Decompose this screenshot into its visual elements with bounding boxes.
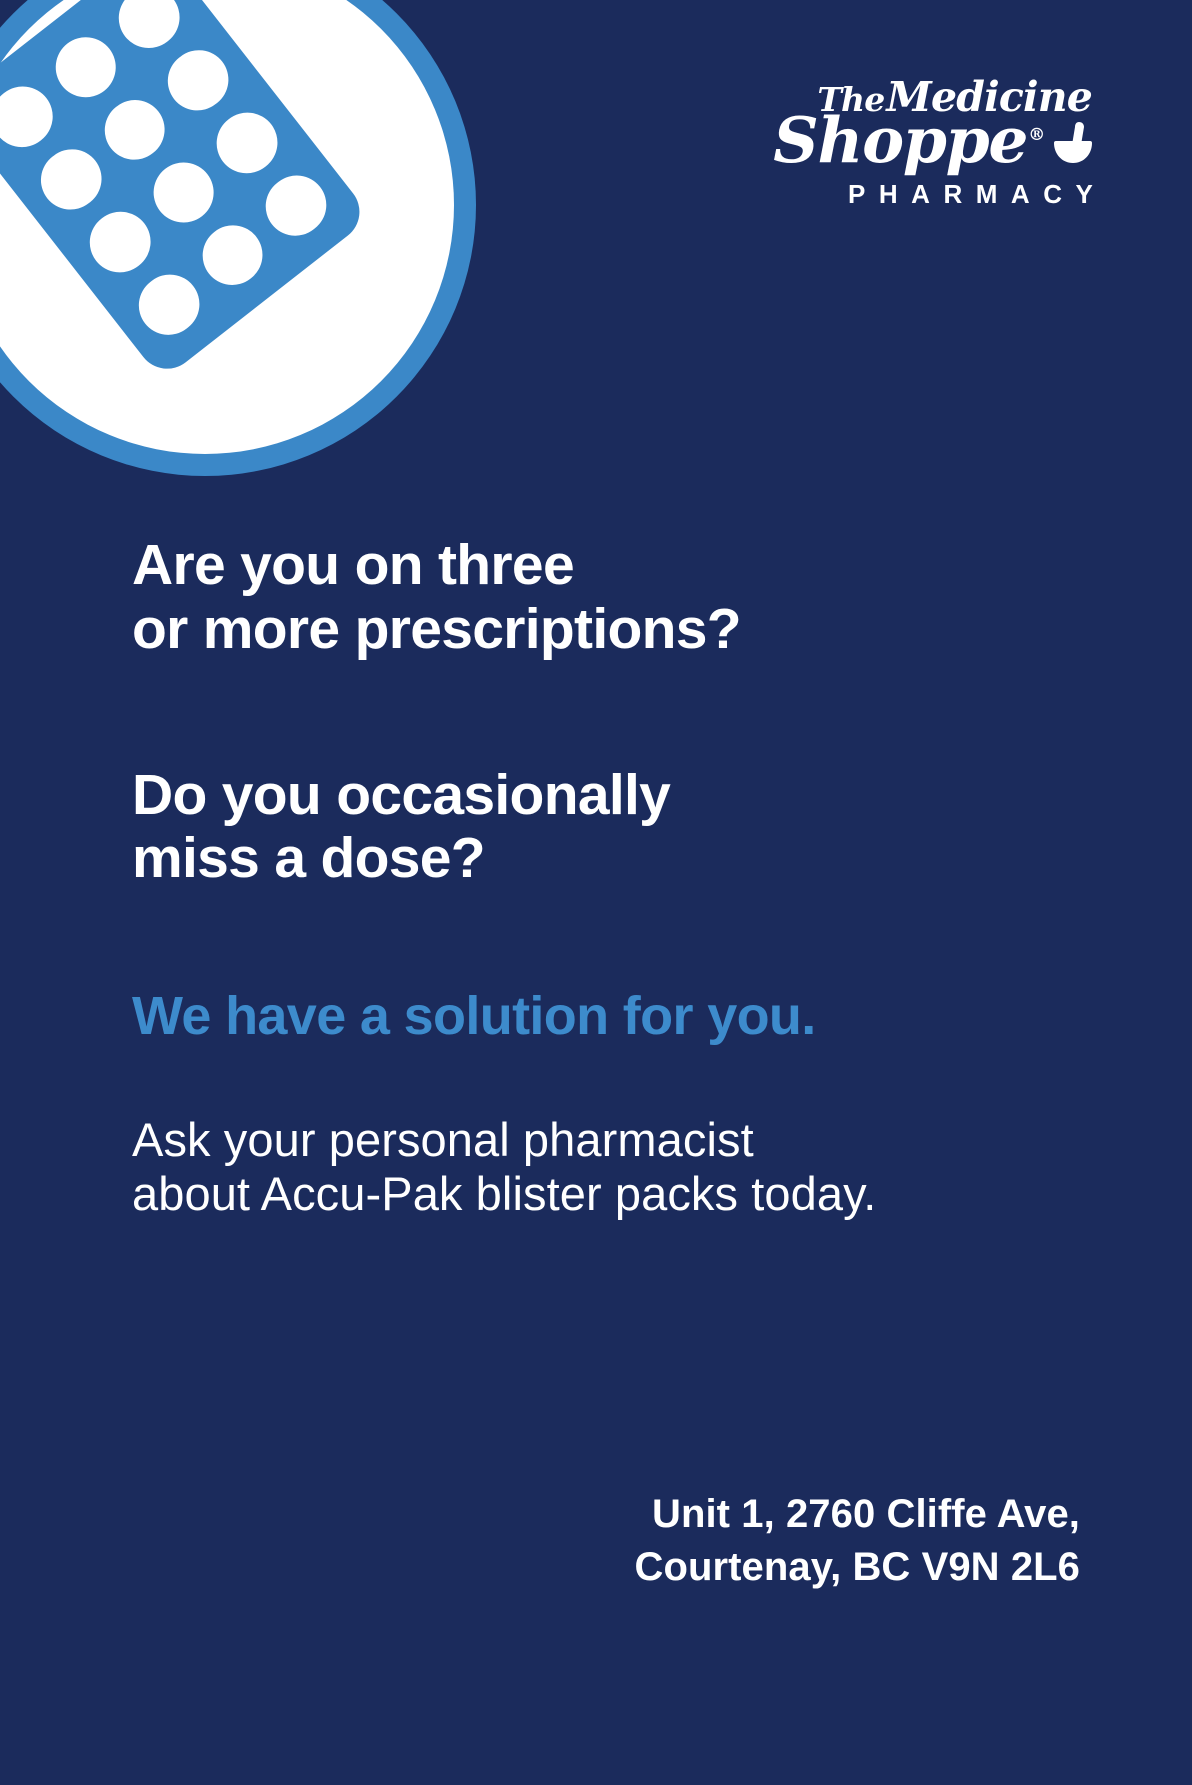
pill-capsule [156, 38, 240, 122]
headline-prescriptions: Are you on three or more prescriptions? [132, 534, 1112, 662]
pill-capsule [0, 75, 64, 159]
pill-capsule [190, 213, 274, 297]
pill-capsule [29, 137, 113, 221]
mortar-and-pestle-icon [1046, 118, 1096, 168]
store-address: Unit 1, 2760 Cliffe Ave, Courtenay, BC V… [635, 1488, 1081, 1594]
pill-capsule [205, 101, 289, 185]
pill-capsule [107, 0, 191, 59]
call-to-action-text: Ask your personal pharmacist about Accu-… [132, 1113, 1112, 1222]
headline-missed-dose: Do you occasionally miss a dose? [132, 764, 1112, 892]
registered-trademark-icon: ® [1028, 128, 1044, 144]
pill-capsule [43, 25, 127, 109]
pill-capsule [254, 163, 338, 247]
pharmacy-poster: TheMedicine Shoppe® PHARMACY Are you on … [0, 0, 1192, 1785]
pill-capsule [127, 263, 211, 347]
logo-shoppe-word: Shoppe [773, 111, 1027, 170]
blister-pack-badge [0, 0, 476, 476]
accent-solution-line: We have a solution for you. [132, 987, 1112, 1046]
pill-capsule [78, 200, 162, 284]
logo-tagline: PHARMACY [696, 179, 1106, 210]
pill-capsule [141, 150, 225, 234]
pill-capsule [92, 88, 176, 172]
poster-copy: Are you on three or more prescriptions? … [132, 534, 1112, 1222]
brand-logo: TheMedicine Shoppe® PHARMACY [696, 78, 1096, 210]
